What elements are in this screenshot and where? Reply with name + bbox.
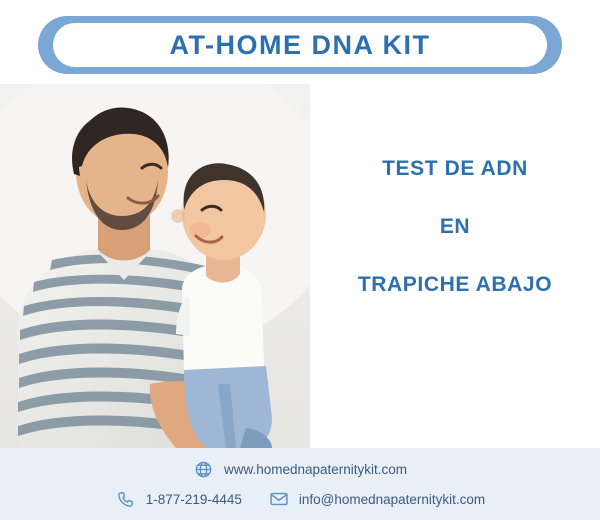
footer-email-text: info@homednapaternitykit.com (299, 492, 485, 507)
footer-row-contact: 1-877-219-4445 info@homednapaternitykit.… (0, 488, 600, 510)
page-title: AT-HOME DNA KIT (170, 30, 431, 61)
headline-block: TEST DE ADN EN TRAPICHE ABAJO (310, 140, 600, 314)
envelope-icon (268, 488, 290, 510)
globe-icon (193, 458, 215, 480)
footer-phone-text: 1-877-219-4445 (146, 492, 242, 507)
header-banner-inner: AT-HOME DNA KIT (53, 23, 547, 67)
headline-line-2: EN (310, 198, 600, 256)
headline-line-3: TRAPICHE ABAJO (310, 256, 600, 314)
phone-icon (115, 488, 137, 510)
footer-phone[interactable]: 1-877-219-4445 (115, 488, 242, 510)
footer-email[interactable]: info@homednapaternitykit.com (268, 488, 485, 510)
headline-line-1: TEST DE ADN (310, 140, 600, 198)
header-banner: AT-HOME DNA KIT (38, 16, 562, 74)
footer-website-text: www.homednapaternitykit.com (224, 462, 407, 477)
photo-illustration (0, 84, 310, 448)
poster: AT-HOME DNA KIT (0, 0, 600, 520)
footer-row-website: www.homednapaternitykit.com (0, 458, 600, 480)
footer-website[interactable]: www.homednapaternitykit.com (193, 458, 407, 480)
footer-bar: www.homednapaternitykit.com 1-877-219-44… (0, 448, 600, 520)
father-holding-toddler-photo (0, 84, 310, 448)
